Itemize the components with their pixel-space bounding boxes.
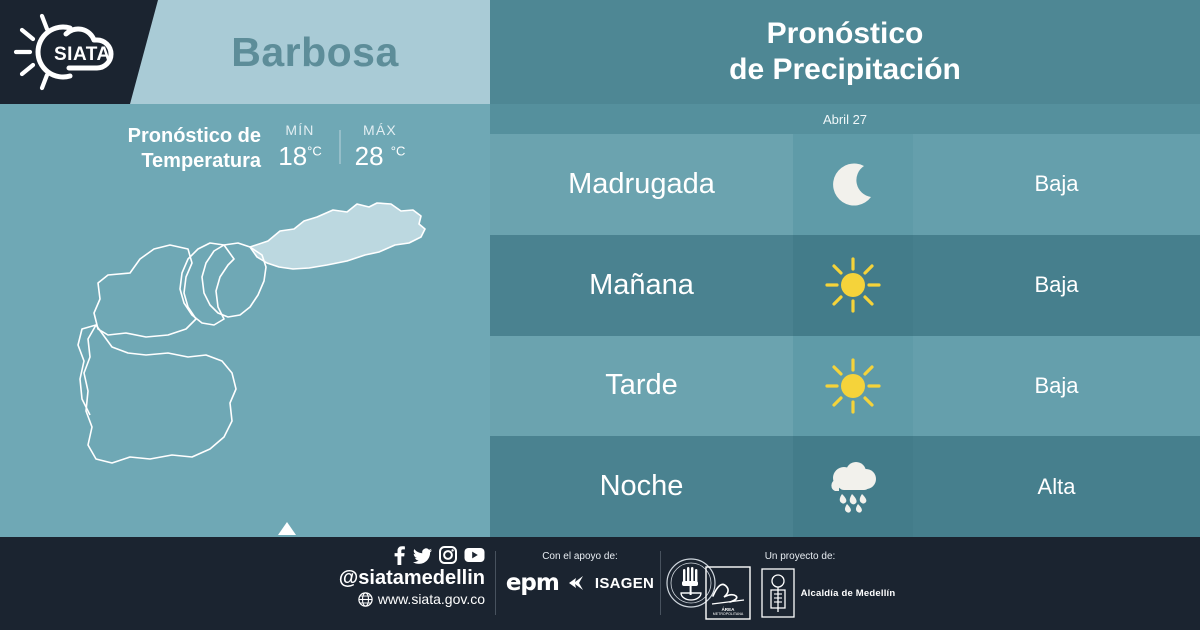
social-handle[interactable]: @siatamedellin (300, 567, 485, 590)
infographic-canvas: Barbosa SIATA Pronóstico de Temperatura (0, 0, 1200, 630)
moon-icon (826, 157, 880, 211)
forecast-icon-cell (793, 336, 913, 437)
footer-bar: @siatamedellin www.siata.gov.co Con el a… (0, 537, 1200, 630)
temperature-panel: Barbosa SIATA Pronóstico de Temperatura (0, 0, 490, 537)
forecast-value-label: Baja (1034, 171, 1078, 197)
forecast-icon-cell (793, 134, 913, 235)
municipality-map[interactable]: N (0, 190, 490, 537)
table-row[interactable]: Madrugada Baja (490, 134, 1200, 235)
alcaldia-shield-icon (761, 568, 795, 618)
instagram-icon[interactable] (439, 546, 457, 564)
temperature-min-label: MÍN (261, 122, 339, 138)
map-region-medellin (84, 325, 236, 463)
temperature-max-value: 28 °C (341, 141, 419, 172)
footer-divider (660, 551, 661, 615)
precipitation-title-line2: de Precipitación (729, 52, 961, 88)
forecast-value-cell: Baja (913, 235, 1200, 336)
area-logo-text-2: METROPOLITANA (712, 612, 743, 616)
forecast-value-label: Baja (1034, 373, 1078, 399)
isagen-mark-icon (569, 576, 585, 590)
epm-logo: epm (506, 570, 559, 596)
alcaldia-logo-text: Alcaldía de Medellín (801, 588, 896, 599)
temperature-max: MÁX 28 °C (341, 110, 419, 172)
temperature-divider (339, 130, 341, 164)
forecast-period-label: Mañana (589, 269, 694, 302)
footer-divider (495, 551, 496, 615)
website-url: www.siata.gov.co (378, 591, 485, 607)
forecast-value-label: Alta (1038, 474, 1076, 500)
forecast-period-cell: Tarde (490, 336, 793, 437)
temperature-min-number: 18 (278, 141, 307, 171)
project-label: Un proyecto de: (700, 551, 900, 562)
table-row[interactable]: Mañana (490, 235, 1200, 336)
table-row[interactable]: Noche (490, 436, 1200, 537)
table-row[interactable]: Tarde (490, 336, 1200, 437)
temperature-max-unit: °C (391, 143, 406, 158)
temperature-min-value: 18°C (261, 141, 339, 172)
svg-text:SIATA: SIATA (54, 44, 111, 65)
temperature-summary: Pronóstico de Temperatura MÍN 18°C MÁX 2… (0, 110, 490, 192)
support-block: Con el apoyo de: epm ISAGEN (505, 551, 655, 596)
map-region-copacabana (180, 243, 234, 325)
forecast-period-cell: Madrugada (490, 134, 793, 235)
forecast-value-cell: Baja (913, 336, 1200, 437)
forecast-period-label: Noche (600, 470, 684, 503)
temperature-min-unit: °C (307, 143, 322, 158)
temperature-max-label: MÁX (341, 122, 419, 138)
project-block: Un proyecto de: ÁREA METROPOLITANA (700, 551, 900, 620)
temperature-max-number: 28 (355, 141, 384, 171)
sun-cloud-icon: SIATA (8, 8, 130, 96)
sun-icon (823, 356, 883, 416)
forecast-period-cell: Noche (490, 436, 793, 537)
temperature-title-line1: Pronóstico de (81, 124, 261, 149)
globe-icon (358, 592, 373, 607)
precipitation-title: Pronóstico de Precipitación (729, 16, 961, 88)
forecast-icon-cell (793, 235, 913, 336)
precipitation-title-line1: Pronóstico (729, 16, 961, 52)
map-region-barbosa (250, 203, 425, 269)
temperature-title: Pronóstico de Temperatura (81, 110, 261, 174)
forecast-value-label: Baja (1034, 272, 1078, 298)
support-logos: epm ISAGEN (505, 570, 655, 596)
website-line[interactable]: www.siata.gov.co (300, 591, 485, 607)
support-label: Con el apoyo de: (505, 551, 655, 562)
page-title: Barbosa (140, 0, 490, 104)
isagen-logo: ISAGEN (595, 575, 654, 592)
forecast-period-cell: Mañana (490, 235, 793, 336)
social-block: @siatamedellin www.siata.gov.co (300, 545, 485, 607)
forecast-period-label: Madrugada (568, 168, 715, 201)
forecast-icon-cell (793, 436, 913, 537)
twitter-icon[interactable] (413, 546, 432, 565)
forecast-value-cell: Baja (913, 134, 1200, 235)
youtube-icon[interactable] (464, 547, 485, 563)
forecast-period-label: Tarde (605, 369, 678, 402)
social-icons (300, 545, 485, 565)
precipitation-header: Pronóstico de Precipitación (490, 0, 1200, 104)
rain-cloud-icon (822, 456, 884, 518)
forecast-date-band: Abril 27 (490, 104, 1200, 134)
precipitation-panel: Pronóstico de Precipitación Abril 27 Mad… (490, 0, 1200, 537)
sun-icon (823, 255, 883, 315)
temperature-min: MÍN 18°C (261, 110, 339, 172)
aburra-valley-map-svg (0, 190, 490, 537)
forecast-table: Madrugada Baja Mañana (490, 134, 1200, 537)
temperature-title-line2: Temperatura (81, 149, 261, 174)
area-metropolitana-logo: ÁREA METROPOLITANA (705, 566, 751, 620)
forecast-date: Abril 27 (823, 112, 867, 127)
facebook-icon[interactable] (393, 546, 406, 565)
forecast-value-cell: Alta (913, 436, 1200, 537)
project-logos: ÁREA METROPOLITANA Alcaldía de Medellín (700, 566, 900, 620)
